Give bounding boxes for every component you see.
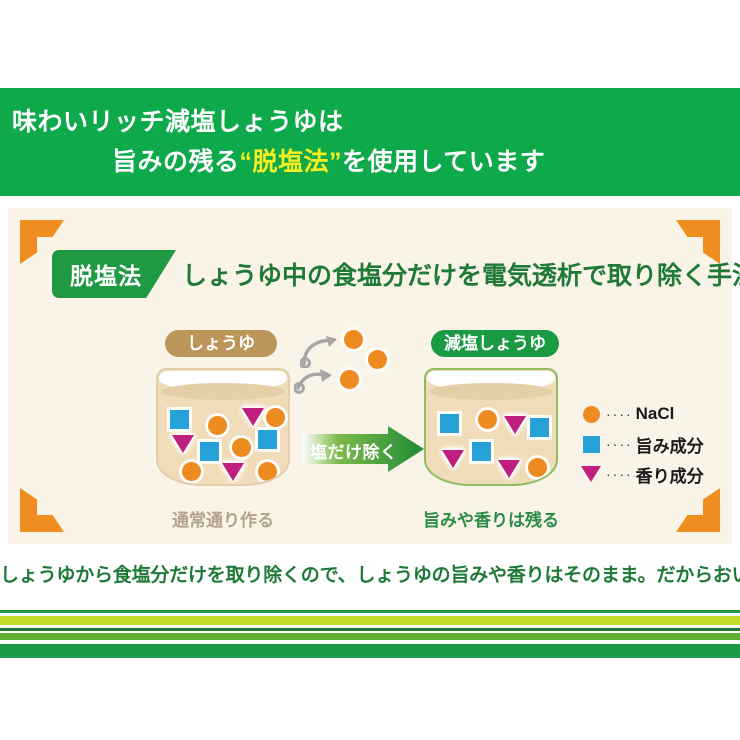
blue-square-icon (580, 436, 602, 453)
process-arrow-label: 塩だけ除く (310, 438, 398, 463)
legend-row: ····旨み成分 (580, 429, 704, 459)
stripe-band (0, 633, 740, 640)
legend-label: 旨み成分 (636, 432, 704, 457)
corner-bracket-bottom-left-icon (20, 488, 64, 532)
left-bowl-diagram (156, 368, 290, 486)
left-bowl-caption: 通常通り作る (133, 506, 313, 531)
umami-particle (170, 410, 189, 429)
right-bowl-body (424, 368, 558, 486)
legend-row: ····香り成分 (580, 459, 704, 489)
right-bowl-pill-label: 減塩しょうゆ (431, 330, 559, 357)
nacl-particle (266, 408, 285, 427)
escaping-nacl-particle (344, 330, 363, 349)
headline-emphasis: “脱塩法” (240, 148, 343, 176)
nacl-particle (232, 438, 251, 457)
escaping-nacl-particle (368, 350, 387, 369)
right-bowl-liquid-surface (429, 383, 553, 400)
stripe-band (0, 658, 740, 662)
legend-dot-leader: ···· (606, 466, 633, 482)
nacl-particle (528, 458, 547, 477)
aroma-particle (442, 450, 464, 468)
stripe-band (0, 644, 740, 658)
headline-line-2: 旨みの残る“脱塩法”を使用しています (112, 150, 545, 175)
umami-particle (440, 414, 459, 433)
nacl-particle (258, 462, 277, 481)
left-bowl-liquid-surface (161, 383, 285, 400)
aroma-particle (172, 435, 194, 453)
bottom-caption: しょうゆから食塩分だけを取り除くので、しょうゆの旨みや香りはそのまま。だからおい… (0, 560, 740, 587)
headline-banner: 味わいリッチ減塩しょうゆは 旨みの残る“脱塩法”を使用しています (0, 88, 740, 196)
nacl-particle (478, 410, 497, 429)
left-bowl-pill-label: しょうゆ (165, 330, 277, 357)
legend-row: ····NaCl (580, 399, 704, 429)
aroma-particle (498, 460, 520, 478)
umami-particle (530, 418, 549, 437)
right-bowl-diagram (424, 368, 558, 486)
method-tag-badge: 脱塩法 (52, 250, 176, 298)
process-arrow: 塩だけ除く (302, 426, 424, 472)
umami-particle (258, 430, 277, 449)
right-bowl-caption: 旨みや香りは残る (401, 506, 581, 531)
escape-arrow-upper-icon (300, 334, 344, 368)
particle-legend: ····NaCl····旨み成分····香り成分 (580, 399, 704, 489)
orange-circle-icon-shape (583, 406, 600, 423)
stripe-band (0, 616, 740, 625)
legend-label: 香り成分 (636, 462, 704, 487)
orange-circle-icon (580, 406, 602, 423)
legend-label: NaCl (636, 404, 675, 424)
legend-dot-leader: ···· (606, 436, 633, 452)
legend-dot-leader: ···· (606, 406, 633, 422)
headline-line-2-suffix: を使用しています (342, 148, 545, 176)
method-panel: 脱塩法 しょうゆ中の食塩分だけを電気透析で取り除く手法 しょうゆ 減塩しょうゆ … (8, 208, 732, 544)
aroma-particle (242, 408, 264, 426)
escaping-salt-group (300, 328, 396, 404)
decorative-stripes (0, 605, 740, 662)
escaping-nacl-particle (340, 370, 359, 389)
umami-particle (472, 442, 491, 461)
left-bowl-body (156, 368, 290, 486)
method-description: しょうゆ中の食塩分だけを電気透析で取り除く手法 (182, 256, 740, 292)
umami-particle (200, 442, 219, 461)
headline-line-1: 味わいリッチ減塩しょうゆは (12, 110, 344, 135)
blue-square-icon-shape (583, 436, 600, 453)
aroma-particle (504, 416, 526, 434)
corner-bracket-bottom-right-icon (676, 488, 720, 532)
magenta-triangle-icon (580, 466, 602, 482)
aroma-particle (222, 463, 244, 481)
method-heading-row: 脱塩法 しょうゆ中の食塩分だけを電気透析で取り除く手法 (52, 250, 740, 298)
headline-line-2-prefix: 旨みの残る (112, 148, 240, 176)
magenta-triangle-icon-shape (581, 466, 601, 482)
escape-arrow-lower-icon (294, 366, 338, 396)
nacl-particle (182, 462, 201, 481)
nacl-particle (208, 416, 227, 435)
